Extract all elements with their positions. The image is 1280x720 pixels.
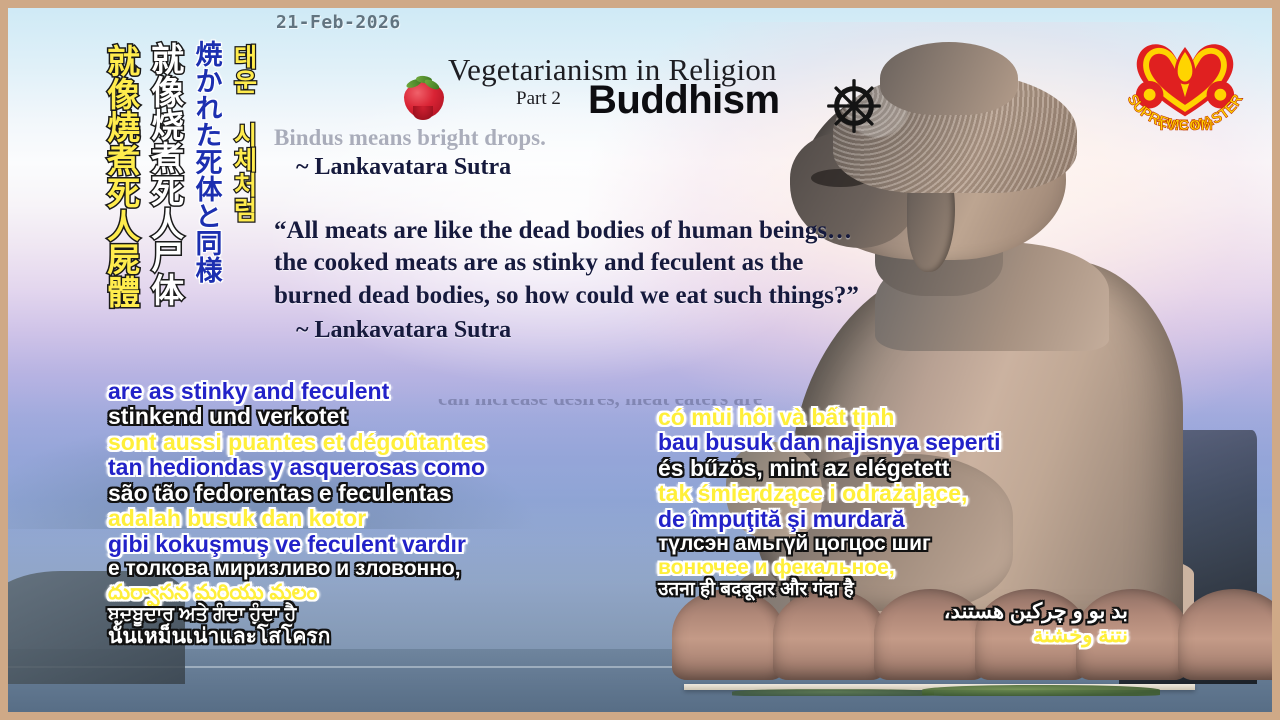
broadcast-date: 21-Feb-2026 bbox=[276, 12, 401, 33]
strawberry-icon bbox=[402, 70, 446, 118]
quote-line: “All meats are like the dead bodies of h… bbox=[274, 215, 954, 247]
program-title-block: Vegetarianism in Religion Part 2 Buddhis… bbox=[396, 52, 866, 136]
topic-title: Buddhism bbox=[588, 78, 780, 123]
vertical-subtitle-korean: 태운 시체처럼 bbox=[230, 44, 256, 222]
statue-ushnisha bbox=[880, 42, 1018, 115]
subtitle-line-spanish: tan hediondas y asquerosas como bbox=[108, 456, 653, 479]
quote-attribution-top: ~ Lankavatara Sutra bbox=[274, 149, 954, 185]
subtitle-line-russian: вонючее и фекальное, bbox=[658, 557, 1128, 578]
subtitle-line-english: are as stinky and feculent bbox=[108, 380, 653, 403]
subtitle-line-turkish: gibi kokuşmuş ve feculent vardır bbox=[108, 533, 653, 556]
video-frame: 21-Feb-2026 Vegetarianism in Religion Pa… bbox=[8, 8, 1272, 712]
subtitle-line-punjabi: ਬਦਬੂਦਾਰ ਅਤੇ ਗੰਦਾ ਹੁੰਦਾ ਹੈ bbox=[108, 605, 653, 624]
shrubbery bbox=[922, 685, 1160, 696]
subtitle-line-german: stinkend und verkotet bbox=[108, 405, 653, 428]
subtitle-line-malay: bau busuk dan najisnya seperti bbox=[658, 431, 1128, 454]
vertical-subtitle-chinese-simplified: 就像烧煮死人尸体 bbox=[148, 42, 182, 306]
quote-body: “All meats are like the dead bodies of h… bbox=[274, 215, 954, 312]
subtitle-line-vietnamese: có mùi hôi và bất tịnh bbox=[658, 406, 1128, 429]
subtitle-line-bulgarian: е толкова миризливо и зловонно, bbox=[108, 558, 653, 579]
broadcast-screen: 21-Feb-2026 Vegetarianism in Religion Pa… bbox=[0, 0, 1280, 720]
subtitle-line-polish: tak śmierdzące i odrażające, bbox=[658, 482, 1128, 505]
subtitle-column-left: are as stinky and feculentstinkend und v… bbox=[108, 380, 653, 650]
part-label: Part 2 bbox=[516, 88, 561, 110]
subtitle-line-mongolian: түлсэн амьгүй цогцос шиг bbox=[658, 533, 1128, 554]
subtitle-line-hungarian: és bűzös, mint az elégetett bbox=[658, 457, 1128, 480]
logo-line-2: TV.COM bbox=[1157, 118, 1213, 134]
vertical-subtitle-chinese-traditional: 就像燒煮死人屍體 bbox=[104, 44, 138, 308]
subtitle-column-right: có mùi hôi và bất tịnhbau busuk dan naji… bbox=[658, 406, 1128, 648]
quote-attribution-bottom: ~ Lankavatara Sutra bbox=[274, 312, 954, 348]
shrubbery-left bbox=[732, 689, 934, 696]
subtitle-line-portuguese: são tão fedorentas e feculentas bbox=[108, 482, 653, 505]
subtitle-line-french: sont aussi puantes et dégoûtantes bbox=[108, 431, 653, 454]
vertical-subtitle-japanese: 焼かれた死体と同様 bbox=[192, 40, 220, 283]
subtitle-line-thai: นั้นเหม็นเน่าและโสโครก bbox=[108, 626, 653, 647]
subtitle-line-hindi: उतना ही बदबूदार और गंदा है bbox=[658, 580, 1128, 599]
subtitle-line-indonesian: adalah busuk dan kotor bbox=[108, 507, 653, 530]
previous-quote-fading: Bindus means bright drops. bbox=[274, 126, 954, 149]
quote-line: burned dead bodies, so how could we eat … bbox=[274, 280, 954, 312]
supreme-master-tv-logo[interactable]: SUPREME MASTER TV.COM bbox=[1116, 22, 1254, 134]
quote-line: the cooked meats are as stinky and fecul… bbox=[274, 247, 954, 279]
subtitle-line-telugu: దుర్వాసన మరియు మలం bbox=[108, 582, 653, 603]
subtitle-line-romanian: de împuţită şi murdară bbox=[658, 508, 1128, 531]
subtitle-line-persian: بد بو و چرکین هستند، bbox=[658, 601, 1128, 622]
subtitle-line-arabic: نتنة وخشنة bbox=[658, 625, 1128, 646]
scripture-quote-block: Bindus means bright drops. ~ Lankavatara… bbox=[274, 126, 954, 348]
